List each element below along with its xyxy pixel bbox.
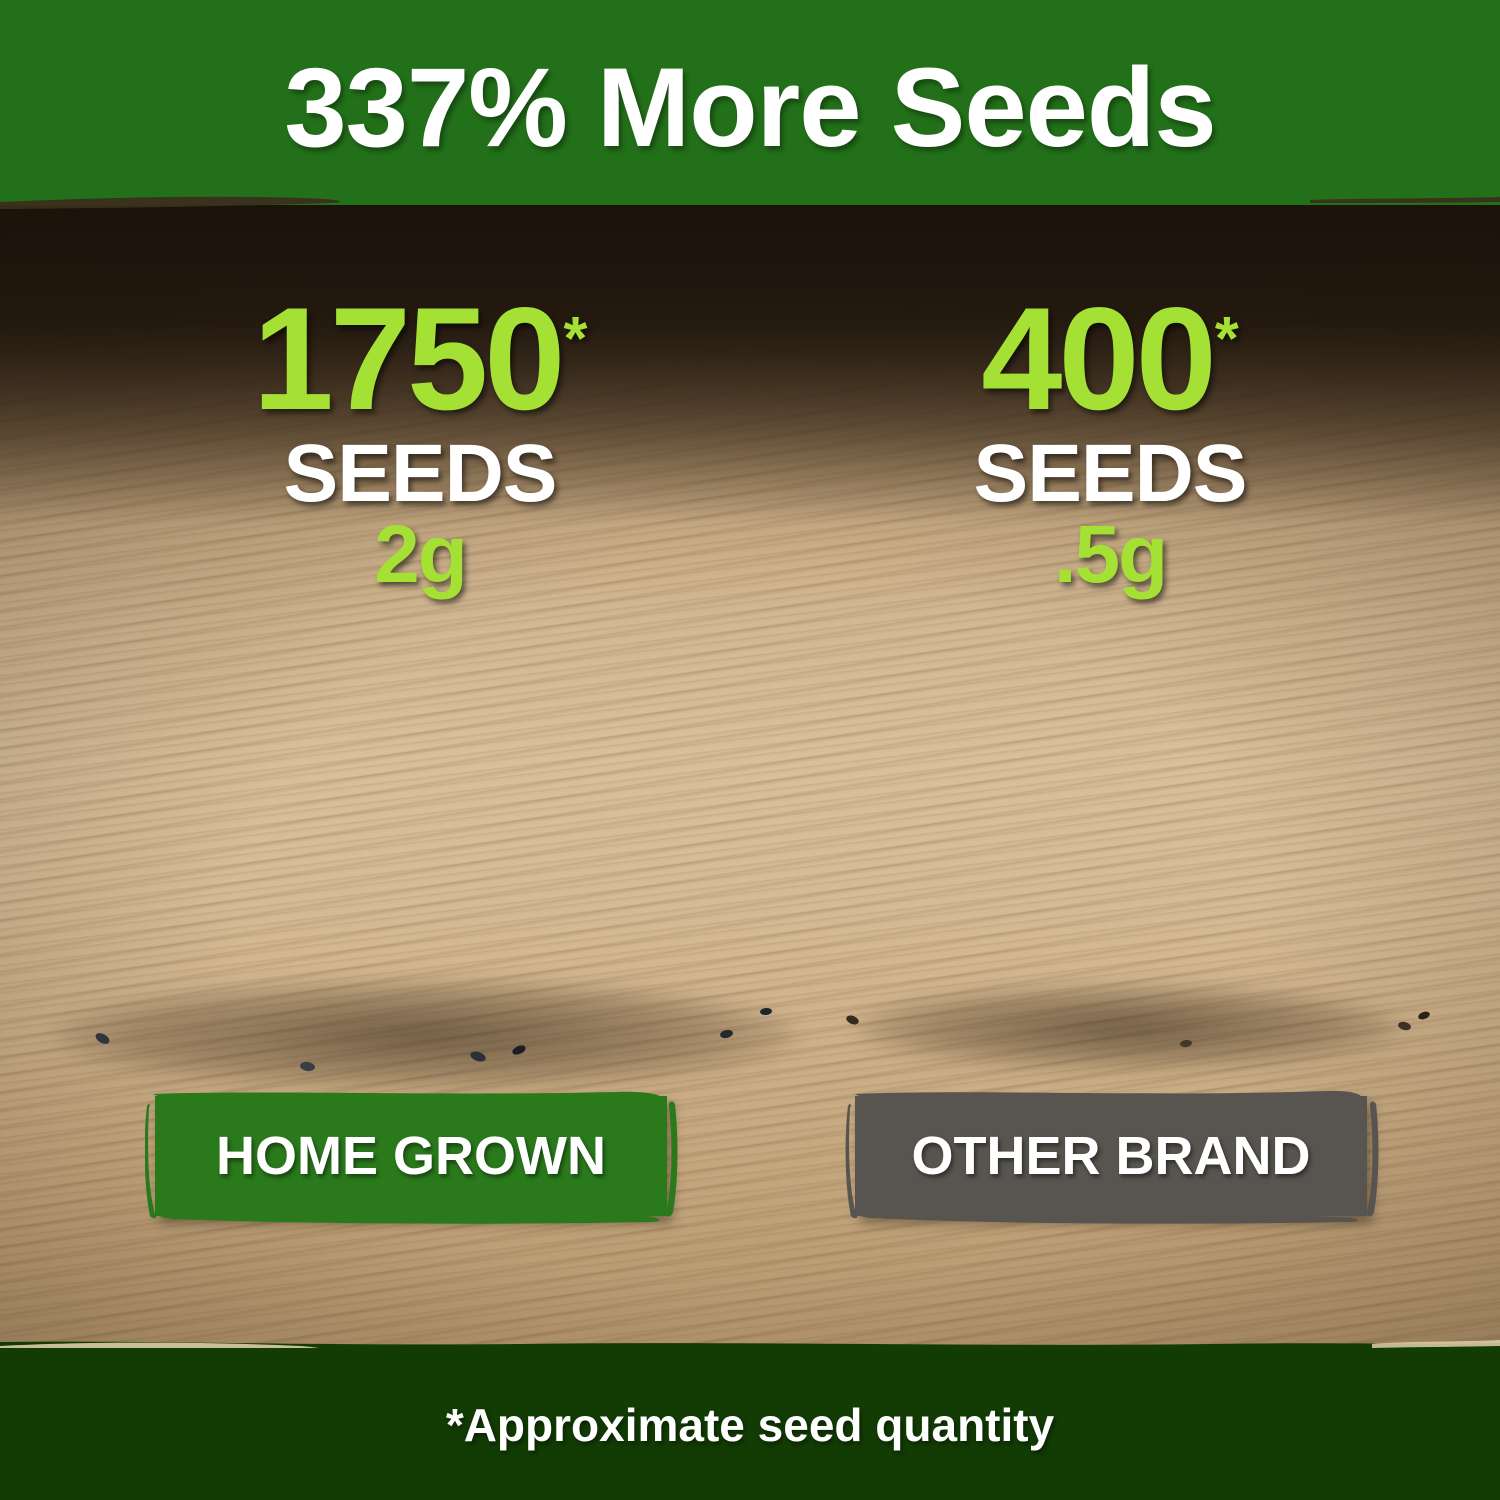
- stat-block-other-brand: 400* SEEDS .5g: [850, 290, 1370, 595]
- seed-weight-home-grown: 2g: [130, 515, 710, 595]
- footnote-asterisk: *: [1215, 303, 1239, 372]
- seed-count-other-brand: 400*: [850, 290, 1370, 429]
- infographic-canvas: 337% More Seeds 1750* SEEDS 2g 400* SEED…: [0, 0, 1500, 1500]
- footnote-text: *Approximate seed quantity: [0, 1398, 1500, 1452]
- background-vignette: [0, 0, 1500, 1500]
- seed-pile-shadow-right: [855, 985, 1400, 1070]
- footnote-asterisk: *: [563, 303, 587, 372]
- brush-stroke-right: [845, 1088, 1385, 1228]
- page-title: 337% More Seeds: [0, 52, 1500, 164]
- seed-unit-other-brand: SEEDS: [850, 435, 1370, 513]
- seed-weight-other-brand: .5g: [850, 515, 1370, 595]
- brand-label-home-grown: HOME GROWN: [155, 1096, 667, 1216]
- header-brush-edge: [0, 186, 1500, 222]
- seed-count-value: 400: [981, 277, 1213, 440]
- seed-pile-shadow-left: [55, 980, 795, 1090]
- brush-stroke-left: [145, 1088, 685, 1228]
- seed-count-home-grown: 1750*: [130, 290, 710, 429]
- brand-label-other-brand: OTHER BRAND: [855, 1096, 1367, 1216]
- seed-unit-home-grown: SEEDS: [130, 435, 710, 513]
- stat-block-home-grown: 1750* SEEDS 2g: [130, 290, 710, 595]
- seed-count-value: 1750: [253, 277, 562, 440]
